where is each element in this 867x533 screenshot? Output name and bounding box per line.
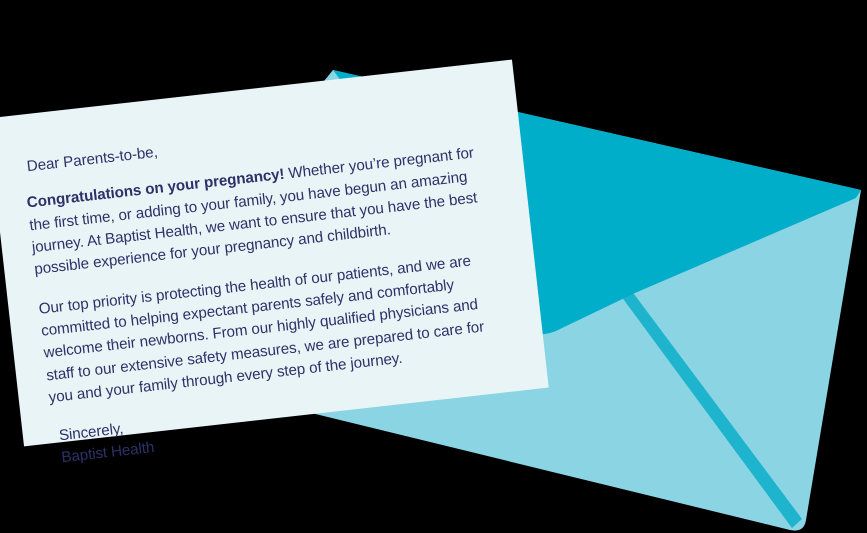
envelope-letter-illustration: Dear Parents-to-be, Congratulations on y… [0, 0, 867, 533]
letter-card: Dear Parents-to-be, Congratulations on y… [0, 60, 549, 447]
letter-content: Dear Parents-to-be, Congratulations on y… [22, 105, 518, 470]
